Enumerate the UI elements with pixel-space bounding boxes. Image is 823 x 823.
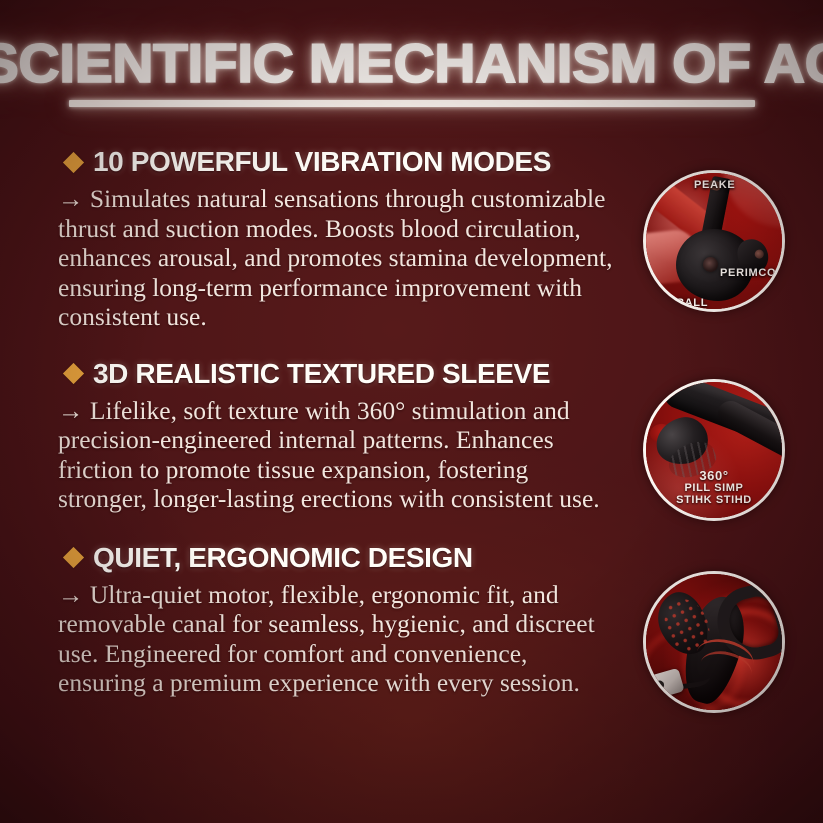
feature-title: 10 POWERFUL VIBRATION MODES xyxy=(93,145,551,179)
feature-title: 3D REALISTIC TEXTURED SLEEVE xyxy=(93,357,550,391)
feature-body-text: → Ultra-quiet motor, flexible, ergonomic… xyxy=(0,580,630,698)
photo-callout-label: PEAKE xyxy=(694,179,735,191)
page-title: SCIENTIFIC MECHANISM OF ACTION xyxy=(0,33,823,93)
photo-scene: 360° PILL SIMP STIHK STIHD xyxy=(646,382,782,518)
feature-body-text: → Simulates natural sensations through c… xyxy=(0,184,630,332)
feature-title: QUIET, ERGONOMIC DESIGN xyxy=(93,541,473,575)
diamond-bullet-icon xyxy=(63,151,84,172)
photo-callout-group: 360° PILL SIMP STIHK STIHD xyxy=(646,470,782,506)
poster-canvas: SCIENTIFIC MECHANISM OF ACTION 10 POWERF… xyxy=(0,0,823,823)
photo-callout-label: STIHK STIHD xyxy=(646,494,782,506)
photo-scene: PEAKE PERIMCO RALL xyxy=(646,173,782,309)
photo-shape-device-dial xyxy=(703,257,718,272)
product-photo-textured-sleeve: 360° PILL SIMP STIHK STIHD xyxy=(643,379,785,521)
product-photo-vibration-modes: PEAKE PERIMCO RALL xyxy=(643,170,785,312)
feature-body-text: → Lifelike, soft texture with 360° stimu… xyxy=(0,396,630,514)
photo-callout-label: 360° xyxy=(646,470,782,482)
title-underline-rule xyxy=(69,100,755,107)
product-photo-ergonomic-design xyxy=(643,571,785,713)
diamond-bullet-icon xyxy=(63,547,84,568)
diamond-bullet-icon xyxy=(63,363,84,384)
photo-callout-label: PERIMCO xyxy=(720,267,776,279)
photo-callout-label: PILL SIMP xyxy=(646,482,782,494)
feature-heading-row: QUIET, ERGONOMIC DESIGN xyxy=(0,541,823,575)
photo-scene xyxy=(646,574,782,710)
photo-callout-label: RALL xyxy=(676,297,708,309)
poster-title-block: SCIENTIFIC MECHANISM OF ACTION xyxy=(0,33,823,107)
